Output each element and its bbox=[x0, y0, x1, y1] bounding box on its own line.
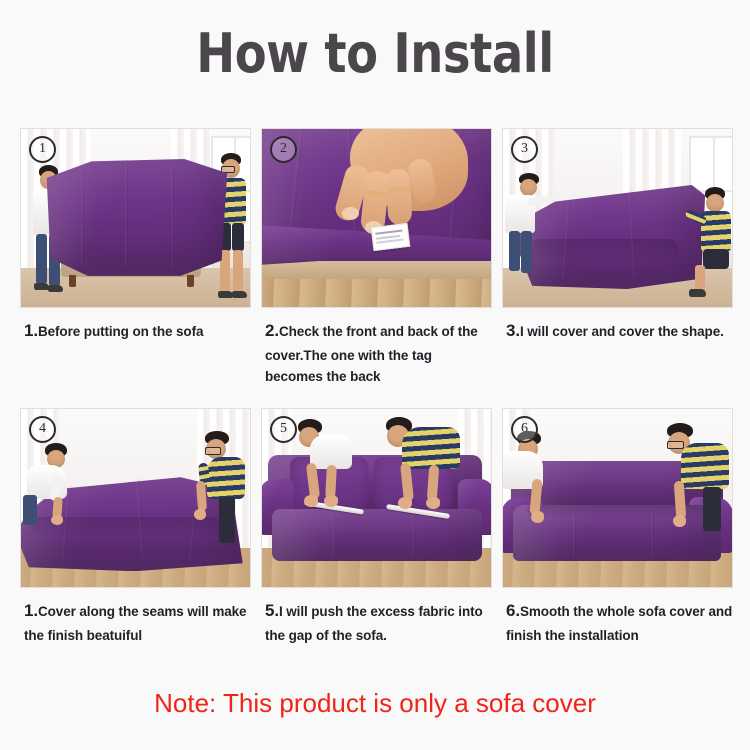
step-caption-2: 2.Check the front and back of the cover.… bbox=[261, 317, 492, 388]
step-caption-3: 3.I will cover and cover the shape. bbox=[502, 317, 733, 345]
illustration-tuck-fabric bbox=[262, 409, 491, 587]
step-cell-2: 2 2.Check the front and back of the cove… bbox=[261, 128, 492, 388]
step-caption-4: 1.Cover along the seams will make the fi… bbox=[20, 597, 251, 646]
step-text: Check the front and back of the cover.Th… bbox=[265, 324, 478, 384]
step-text: I will cover and cover the shape. bbox=[520, 324, 724, 339]
illustration-check-tag bbox=[262, 129, 491, 307]
instruction-page: How to Install bbox=[0, 0, 750, 750]
step-photo-5: 5 bbox=[261, 408, 492, 588]
step-number: 2. bbox=[265, 321, 279, 340]
step-number: 3. bbox=[506, 321, 520, 340]
step-badge: 1 bbox=[29, 136, 56, 163]
step-number: 6. bbox=[506, 601, 520, 620]
steps-grid: 1 1.Before putting on the sofa bbox=[20, 128, 732, 647]
illustration-drape-cover bbox=[503, 129, 732, 307]
step-number: 1. bbox=[24, 321, 38, 340]
step-caption-1: 1.Before putting on the sofa bbox=[20, 317, 251, 345]
step-photo-2: 2 bbox=[261, 128, 492, 308]
care-tag bbox=[371, 223, 411, 251]
step-badge: 2 bbox=[270, 136, 297, 163]
step-cell-1: 1 1.Before putting on the sofa bbox=[20, 128, 251, 388]
step-caption-6: 6.Smooth the whole sofa cover and finish… bbox=[502, 597, 733, 646]
step-photo-6: 6 bbox=[502, 408, 733, 588]
page-title: How to Install bbox=[53, 26, 698, 83]
step-caption-5: 5.I will push the excess fabric into the… bbox=[261, 597, 492, 646]
step-cell-5: 5 5.I will push the excess fabric into t… bbox=[261, 408, 492, 646]
steps-row-1: 1 1.Before putting on the sofa bbox=[20, 128, 732, 388]
step-cell-6: 6 6.Smooth the whole sofa cover and fini… bbox=[502, 408, 733, 646]
step-number: 1. bbox=[24, 601, 38, 620]
steps-row-2: 4 1.Cover along the seams will make the … bbox=[20, 408, 732, 646]
step-photo-4: 4 bbox=[20, 408, 251, 588]
step-photo-1: 1 bbox=[20, 128, 251, 308]
step-text: Cover along the seams will make the fini… bbox=[24, 604, 246, 643]
product-note: Note: This product is only a sofa cover bbox=[0, 688, 750, 719]
step-text: Smooth the whole sofa cover and finish t… bbox=[506, 604, 732, 643]
step-photo-3: 3 bbox=[502, 128, 733, 308]
step-cell-4: 4 1.Cover along the seams will make the … bbox=[20, 408, 251, 646]
step-badge: 3 bbox=[511, 136, 538, 163]
illustration-finished-cover bbox=[503, 409, 732, 587]
step-cell-3: 3 3.I will cover and cover the shape. bbox=[502, 128, 733, 388]
step-number: 5. bbox=[265, 601, 279, 620]
illustration-align-seams bbox=[21, 409, 250, 587]
illustration-holding-cover bbox=[21, 129, 250, 307]
step-text: Before putting on the sofa bbox=[38, 324, 203, 339]
step-text: I will push the excess fabric into the g… bbox=[265, 604, 483, 643]
